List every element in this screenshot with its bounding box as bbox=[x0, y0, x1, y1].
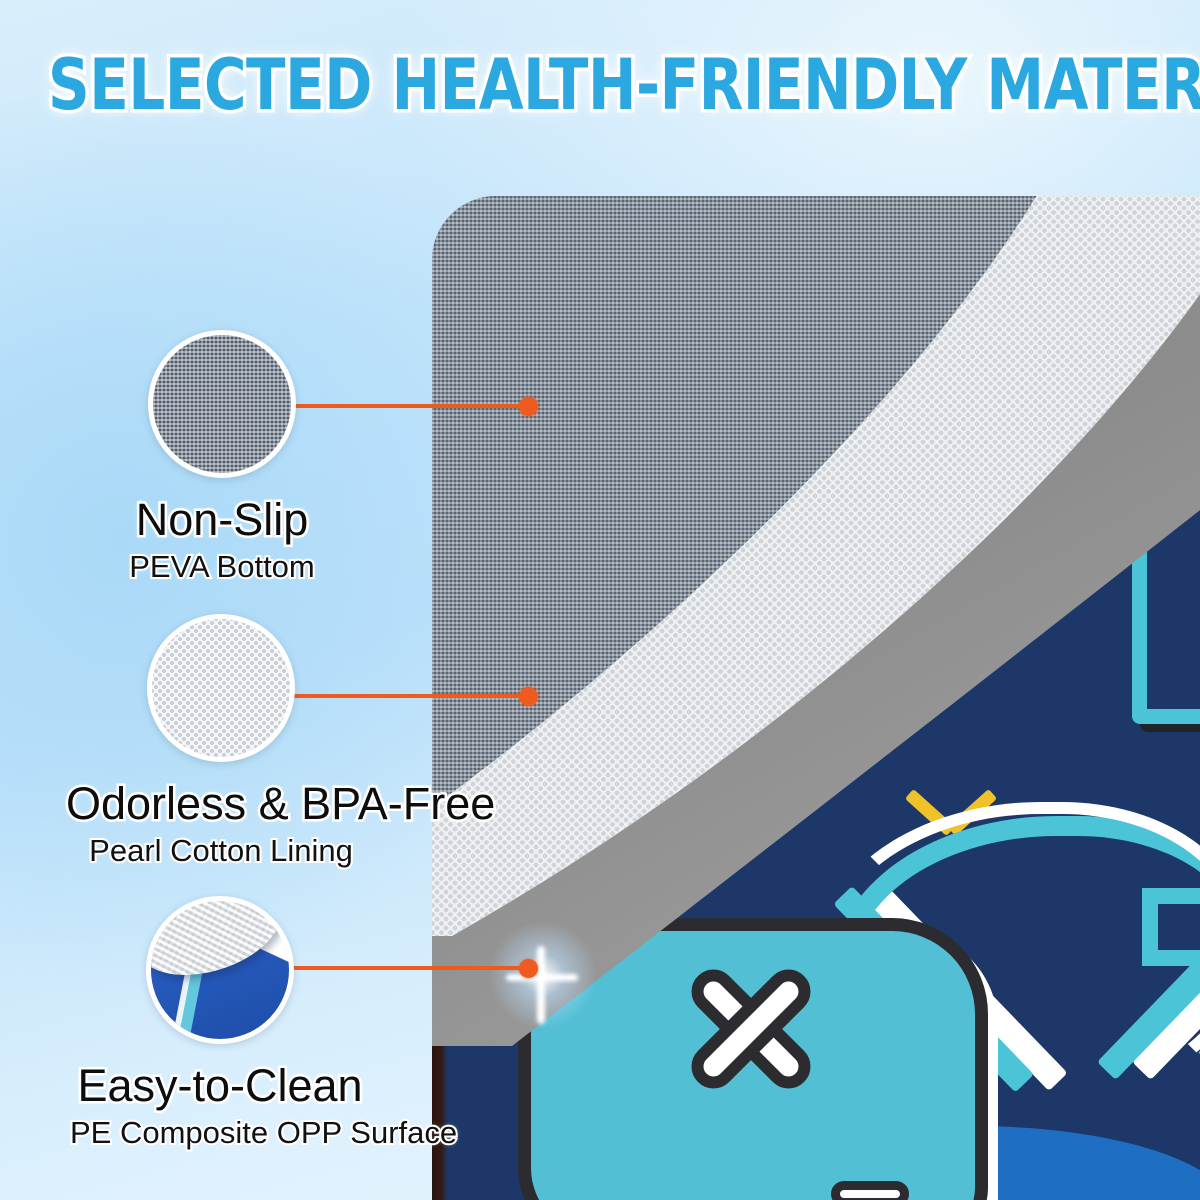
callout-title-non-slip: Non-Slip bbox=[72, 494, 372, 546]
sparkle-beam-vertical bbox=[537, 946, 545, 1024]
callout-non-slip: Non-Slip PEVA Bottom bbox=[72, 330, 372, 586]
white-dotted-lining-swatch bbox=[147, 614, 295, 762]
wiping-cloth-photo-swatch bbox=[146, 896, 294, 1044]
callout-title-easy-clean: Easy-to-Clean bbox=[70, 1060, 370, 1112]
leader-dot-easy-clean bbox=[519, 959, 538, 978]
callout-easy-to-clean: Easy-to-Clean PE Composite OPP Surface bbox=[70, 896, 370, 1152]
mat-graphic-pill bbox=[831, 1181, 909, 1200]
gray-woven-texture-swatch bbox=[148, 330, 296, 478]
callout-subtitle-easy-clean: PE Composite OPP Surface bbox=[70, 1114, 370, 1152]
infographic-canvas: SELECTED HEALTH-FRIENDLY MATERIALS Non-S… bbox=[0, 0, 1200, 1200]
leader-dot-non-slip bbox=[519, 397, 538, 416]
play-mat-illustration bbox=[432, 196, 1200, 1200]
callout-subtitle-non-slip: PEVA Bottom bbox=[72, 548, 372, 586]
leader-dot-odorless bbox=[519, 687, 538, 706]
callout-title-odorless: Odorless & BPA-Free bbox=[66, 778, 376, 830]
thumb-detail bbox=[146, 897, 179, 923]
callout-odorless-bpa-free: Odorless & BPA-Free Pearl Cotton Lining bbox=[66, 614, 376, 870]
page-title: SELECTED HEALTH-FRIENDLY MATERIALS bbox=[48, 46, 1152, 124]
callout-subtitle-odorless: Pearl Cotton Lining bbox=[66, 832, 376, 870]
sparkle-beam-horizontal bbox=[506, 974, 578, 981]
